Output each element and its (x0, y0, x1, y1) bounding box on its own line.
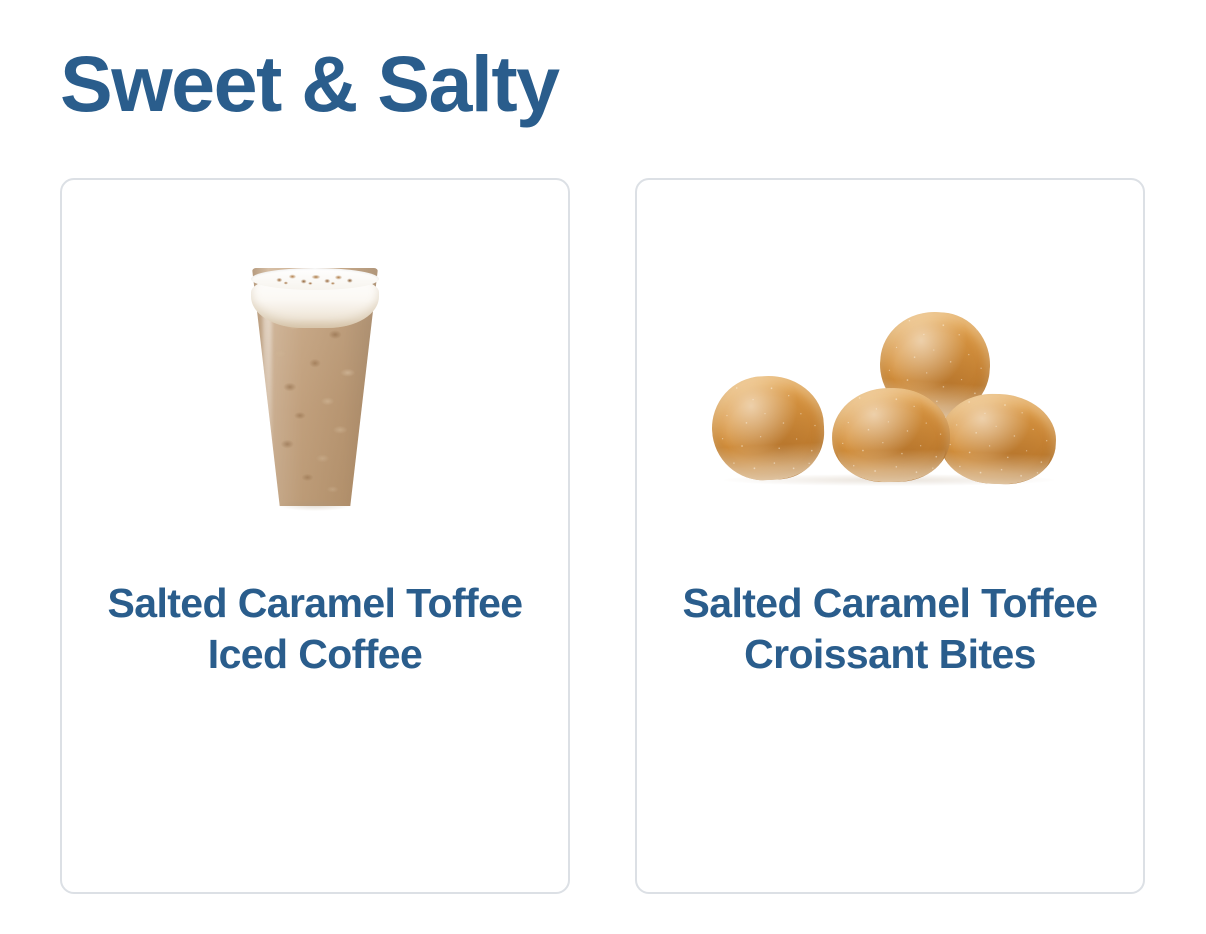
croissant-bites-media (637, 180, 1143, 578)
croissant-bite-left (709, 373, 826, 483)
product-title-iced-coffee: Salted Caramel Toffee Iced Coffee (62, 578, 568, 680)
toffee-crumble-topping (268, 269, 362, 289)
croissant-bite-right (938, 392, 1057, 486)
iced-coffee-image (252, 268, 378, 508)
page-root: Sweet & Salty Salted Caramel Toffee Iced… (0, 0, 1206, 934)
product-card-iced-coffee[interactable]: Salted Caramel Toffee Iced Coffee (60, 178, 570, 894)
croissant-bites-image (704, 308, 1076, 484)
cup-base-shadow (278, 499, 352, 511)
page-title: Sweet & Salty (60, 42, 559, 126)
iced-coffee-media (62, 180, 568, 578)
croissant-bite-center (831, 387, 951, 483)
product-title-croissant-bites: Salted Caramel Toffee Croissant Bites (637, 578, 1143, 680)
product-card-grid: Salted Caramel Toffee Iced Coffee Salted… (60, 178, 1145, 894)
product-card-croissant-bites[interactable]: Salted Caramel Toffee Croissant Bites (635, 178, 1145, 894)
